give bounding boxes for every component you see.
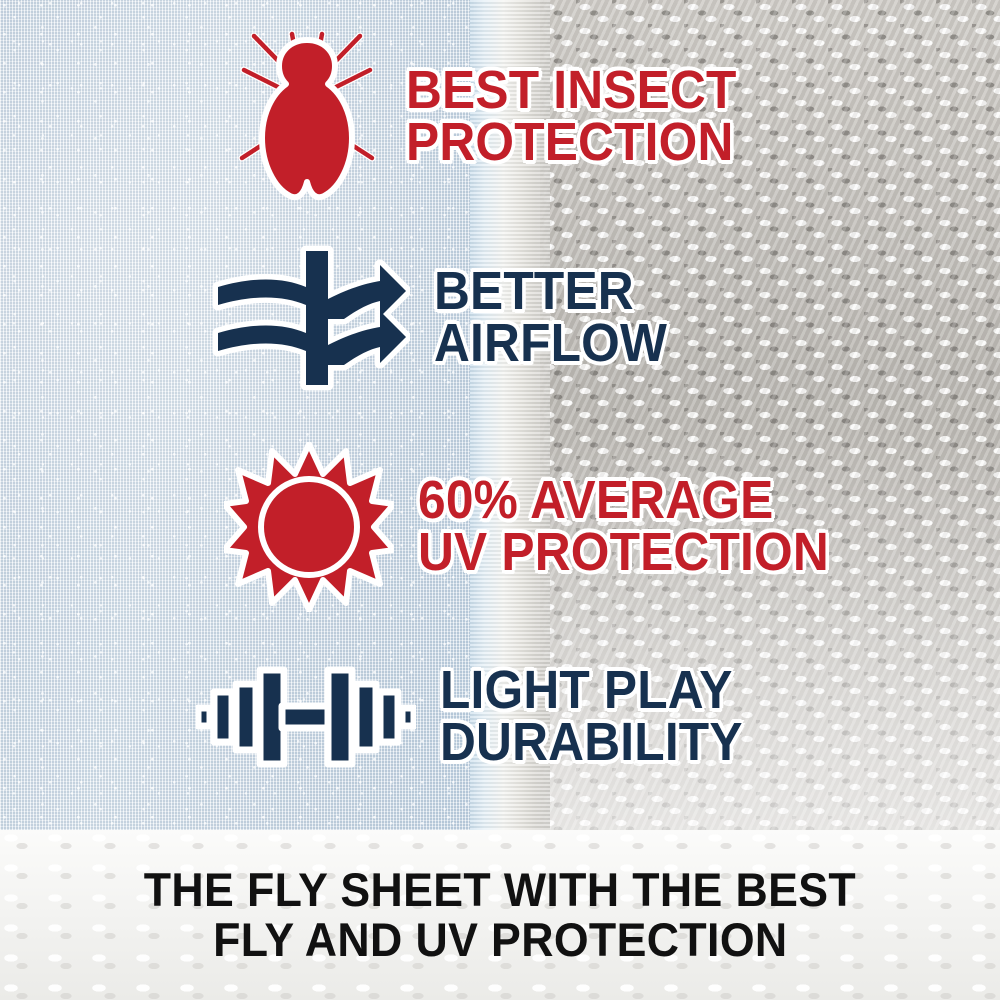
product-feature-infographic: BEST INSECT PROTECTION B: [0, 0, 1000, 1000]
feature-row-insect: BEST INSECT PROTECTION: [232, 22, 765, 212]
feature-label-durability-line2: DURABILITY: [440, 717, 743, 769]
feature-label-durability: LIGHT PLAY DURABILITY: [440, 665, 743, 769]
feature-label-airflow-line2: AIRFLOW: [434, 318, 667, 370]
feature-label-insect-line2: PROTECTION: [406, 117, 737, 169]
airflow-arrows-icon: [210, 243, 410, 393]
feature-label-durability-line1: LIGHT PLAY: [440, 665, 743, 717]
feature-label-uv-line2: UV PROTECTION: [418, 527, 829, 579]
feature-label-insect: BEST INSECT PROTECTION: [406, 65, 737, 169]
feature-label-uv-line1: 60% AVERAGE: [418, 475, 829, 527]
feature-row-durability: LIGHT PLAY DURABILITY: [196, 662, 769, 772]
fly-icon: [232, 22, 382, 212]
tagline-line2: FLY AND UV PROTECTION: [213, 915, 787, 965]
dumbbell-icon: [196, 662, 416, 772]
sun-icon: [224, 442, 394, 612]
feature-row-airflow: BETTER AIRFLOW: [210, 243, 687, 393]
tagline-line1: THE FLY SHEET WITH THE BEST: [144, 865, 856, 915]
feature-label-uv: 60% AVERAGE UV PROTECTION: [418, 475, 829, 579]
feature-label-airflow-line1: BETTER: [434, 266, 667, 318]
feature-label-insect-line1: BEST INSECT: [406, 65, 737, 117]
bottom-tagline-banner: THE FLY SHEET WITH THE BEST FLY AND UV P…: [0, 830, 1000, 1000]
feature-row-uv: 60% AVERAGE UV PROTECTION: [224, 442, 865, 612]
feature-label-airflow: BETTER AIRFLOW: [434, 266, 667, 370]
